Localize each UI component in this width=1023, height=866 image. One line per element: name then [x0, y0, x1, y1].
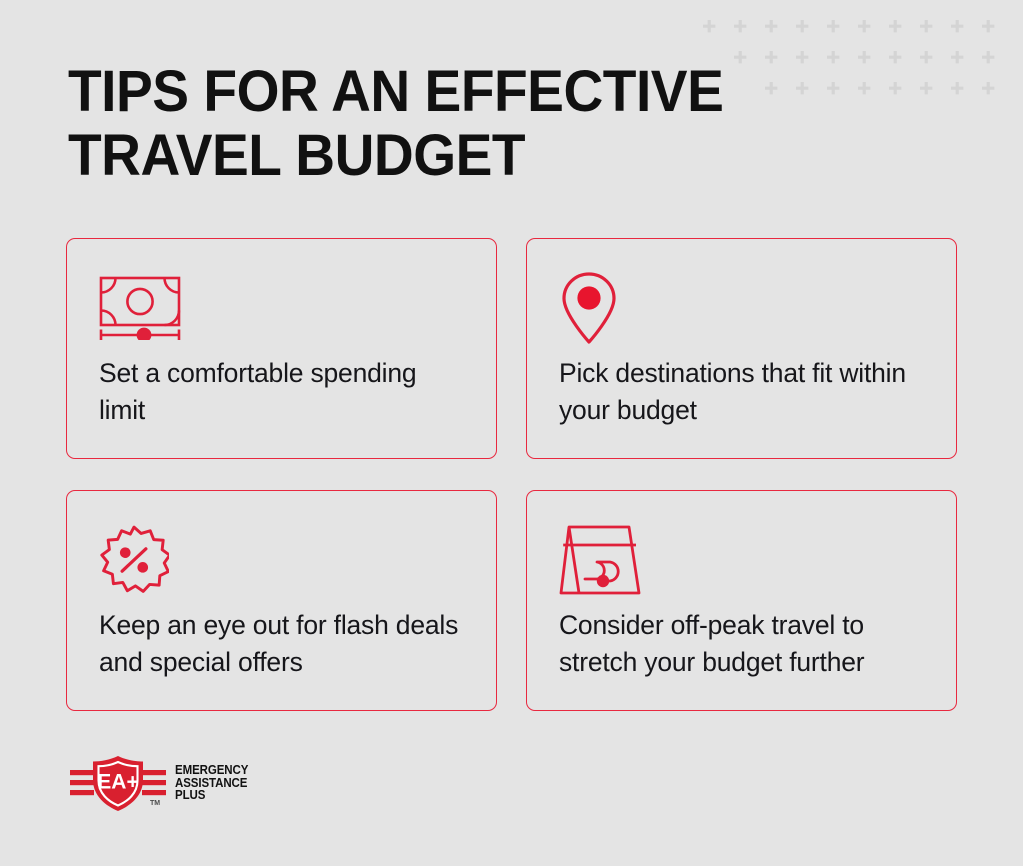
tip-card-text: Pick destinations that fit within your b…: [559, 355, 924, 429]
tip-card-flash-deals[interactable]: Keep an eye out for flash deals and spec…: [66, 490, 497, 711]
shield-monogram: EA+: [97, 771, 138, 794]
logo-wordmark-line-3: PLUS: [175, 789, 248, 802]
logo-wordmark-line-1: EMERGENCY: [175, 764, 248, 777]
logo-lockup: EA+ TM EMERGENCY ASSISTANCE PLUS: [70, 752, 255, 814]
plus-grid-pattern: [693, 0, 1023, 120]
tip-card-text: Keep an eye out for flash deals and spec…: [99, 607, 464, 681]
folded-map-route-icon: [559, 525, 641, 595]
banknote-slider-icon: [99, 276, 181, 340]
tip-card-destinations[interactable]: Pick destinations that fit within your b…: [526, 238, 957, 459]
map-pin-icon: [559, 272, 619, 344]
tip-card-text: Set a comfortable spending limit: [99, 355, 464, 429]
tips-card-grid: Set a comfortable spending limit Pick de…: [66, 238, 957, 711]
logo-wordmark: EMERGENCY ASSISTANCE PLUS: [175, 764, 248, 802]
trademark-symbol: TM: [150, 800, 160, 807]
emergency-assistance-plus-shield-logo: EA+ TM: [70, 752, 166, 814]
card-icon-slot: [559, 521, 924, 599]
page-title: TIPS FOR AN EFFECTIVE TRAVEL BUDGET: [68, 60, 733, 188]
card-icon-slot: [99, 521, 464, 599]
tip-card-off-peak[interactable]: Consider off-peak travel to stretch your…: [526, 490, 957, 711]
discount-badge-percent-icon: [99, 525, 169, 595]
card-icon-slot: [99, 269, 464, 347]
tip-card-spending-limit[interactable]: Set a comfortable spending limit: [66, 238, 497, 459]
card-icon-slot: [559, 269, 924, 347]
tip-card-text: Consider off-peak travel to stretch your…: [559, 607, 924, 681]
